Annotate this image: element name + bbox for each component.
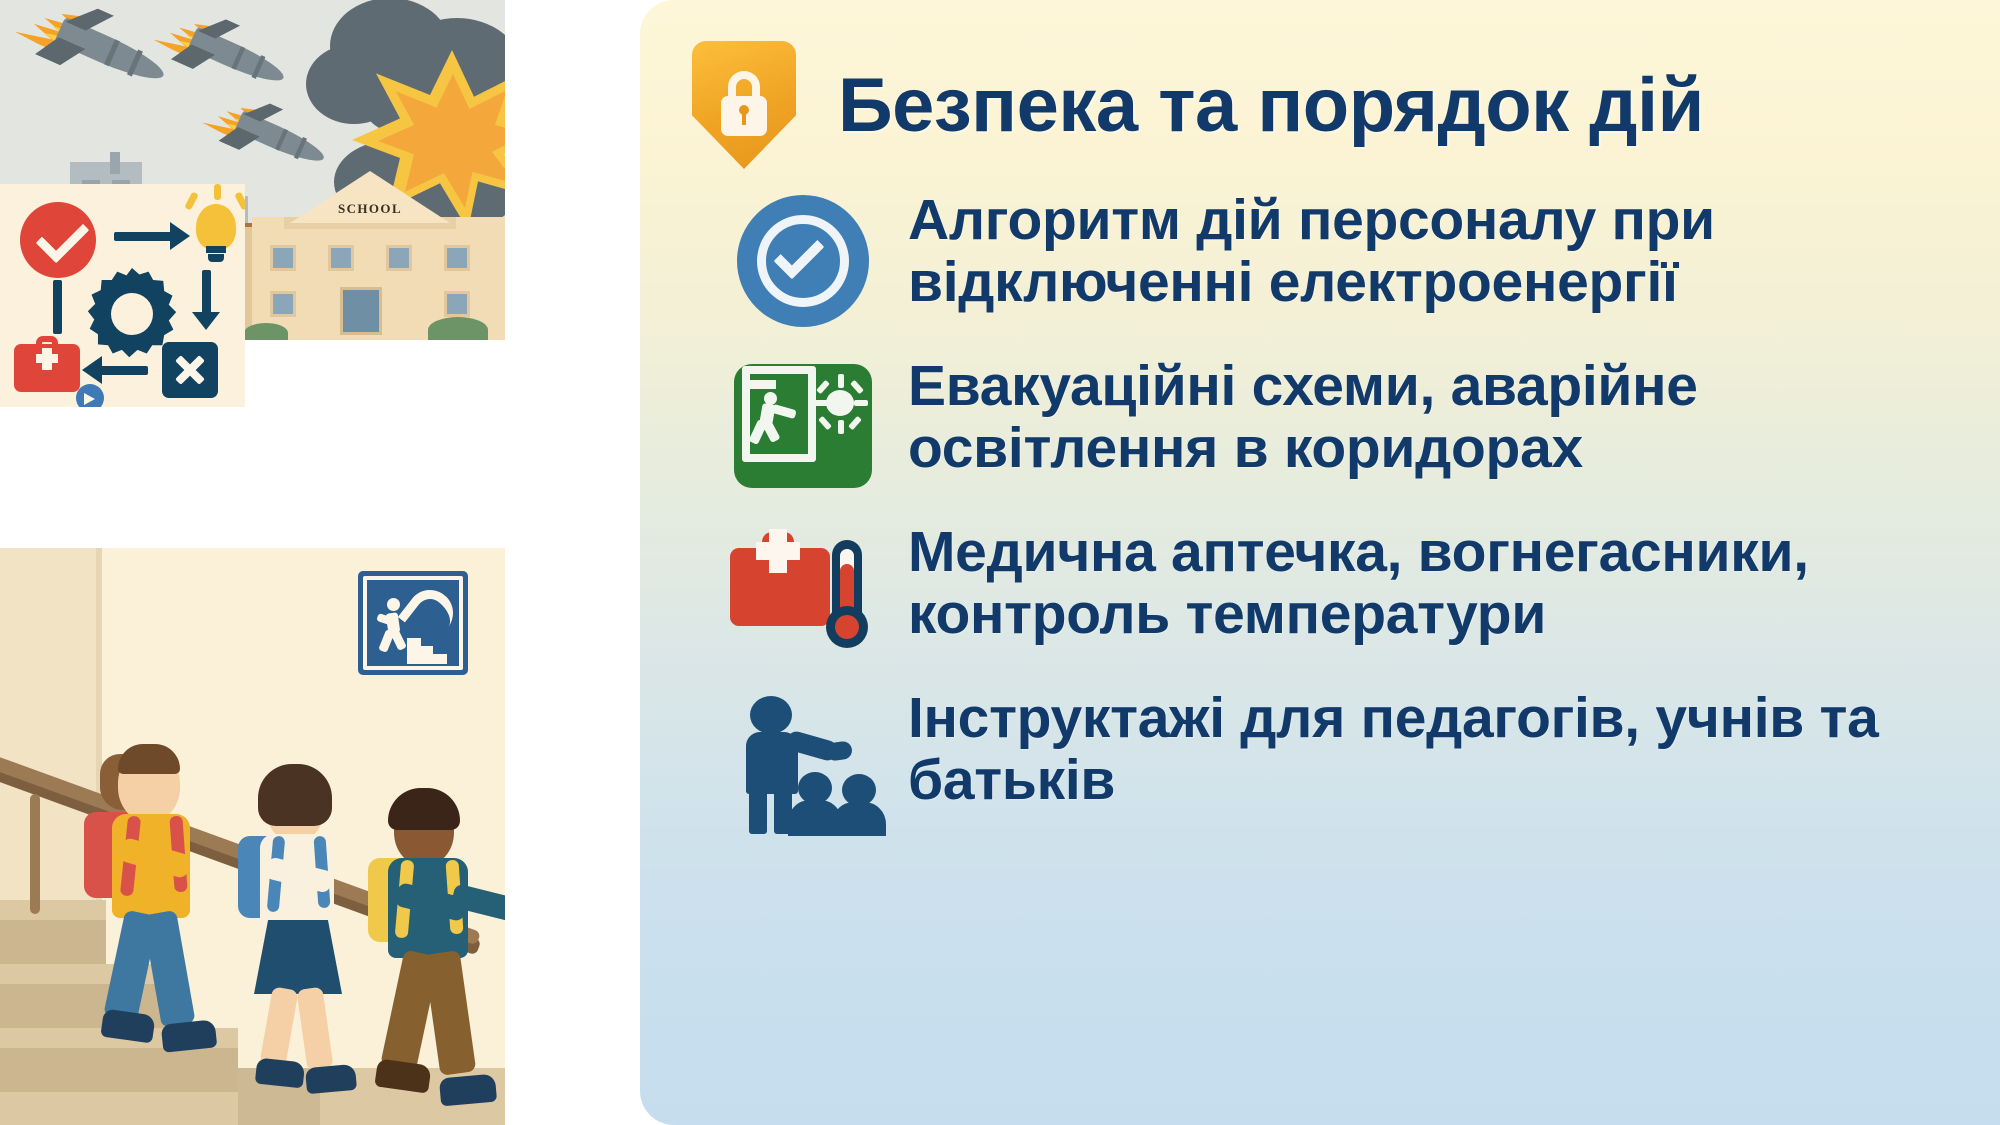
arrow-right-icon	[114, 232, 178, 241]
safety-process-flowchart-illustration	[0, 184, 245, 407]
slide-canvas: SCHOOL	[0, 0, 2000, 1125]
list-item[interactable]: Інструктажі для педагогів, учнів та бать…	[640, 684, 2000, 840]
panel-header: Безпека та порядок дій	[640, 30, 2000, 180]
safety-info-panel: Безпека та порядок дій Алгоритм дій перс…	[640, 0, 2000, 1125]
school-building: SCHOOL	[232, 165, 505, 340]
left-illustration-column: SCHOOL	[0, 0, 505, 1125]
green-emergency-exit-icon	[728, 352, 878, 502]
safety-measures-list: Алгоритм дій персоналу при відключенні е…	[640, 186, 2000, 850]
list-item-label: Евакуаційні схеми, аварійне освітлення в…	[908, 352, 1960, 479]
arrow-down-right-icon	[202, 270, 211, 314]
list-item[interactable]: Алгоритм дій персоналу при відключенні е…	[640, 186, 2000, 342]
list-item[interactable]: Евакуаційні схеми, аварійне освітлення в…	[640, 352, 2000, 508]
arrow-down-left	[53, 280, 62, 334]
instructor-audience-icon	[728, 684, 878, 834]
building-chimney	[110, 152, 120, 174]
cross-x-icon	[162, 342, 218, 398]
shield-lock-icon	[692, 41, 796, 169]
bulb-neck	[206, 246, 226, 253]
school-sign-text: SCHOOL	[290, 201, 450, 217]
list-item-label: Медична аптечка, вогнегасники, контроль …	[908, 518, 1960, 645]
list-item-label: Алгоритм дій персоналу при відключенні е…	[908, 186, 1960, 313]
missile-icon	[16, 0, 181, 103]
student-figure	[368, 780, 505, 1120]
check-mark-icon	[20, 202, 96, 278]
students-evacuating-stairs-illustration	[0, 548, 505, 1125]
circular-arrow-icon	[76, 384, 104, 407]
student-figure	[90, 736, 250, 1096]
list-item[interactable]: Медична аптечка, вогнегасники, контроль …	[640, 518, 2000, 674]
arrow-left-icon	[100, 366, 148, 375]
light-bulb-icon	[196, 204, 236, 250]
page-title: Безпека та порядок дій	[838, 62, 1704, 149]
first-aid-kit-icon	[14, 344, 80, 392]
blue-circle-check-icon	[728, 186, 878, 336]
bulb-base	[208, 254, 224, 262]
evacuation-stairs-sign	[358, 571, 468, 675]
first-aid-kit-thermometer-icon	[728, 518, 878, 668]
list-item-label: Інструктажі для педагогів, учнів та бать…	[908, 684, 1960, 811]
missile-icon	[155, 4, 300, 102]
